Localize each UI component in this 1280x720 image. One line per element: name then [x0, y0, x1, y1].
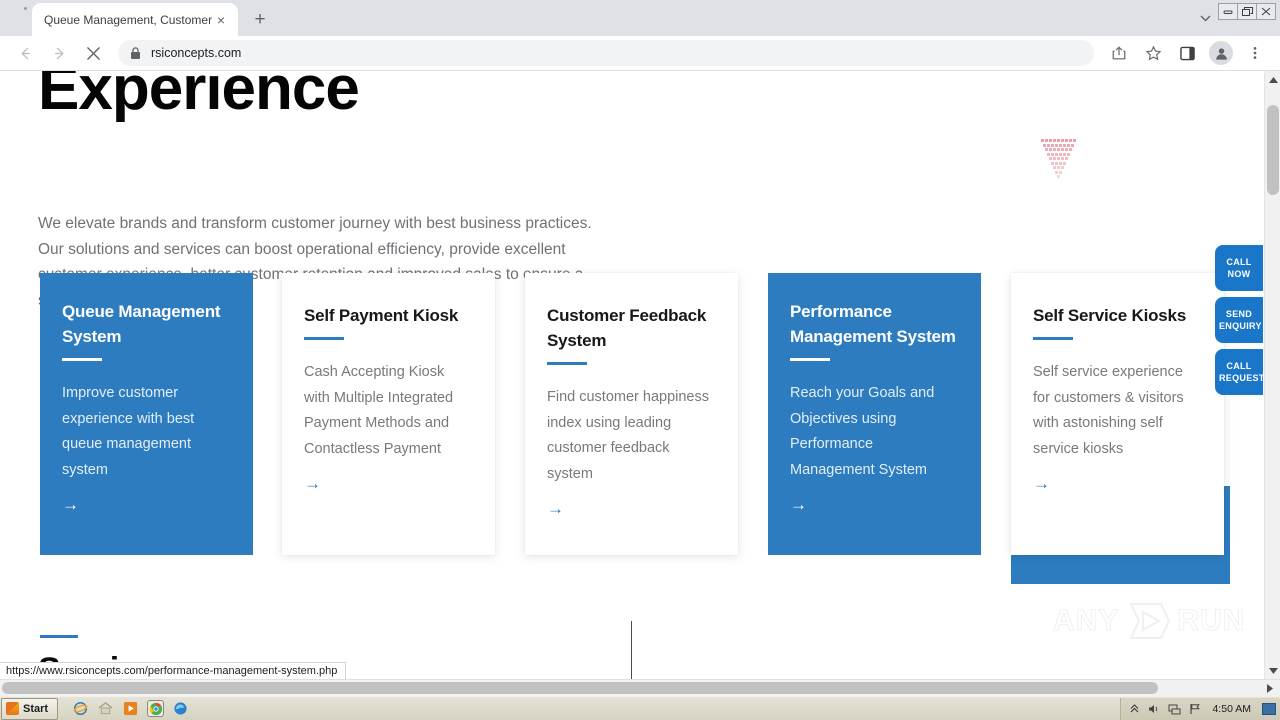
horizontal-scrollbar[interactable]: [0, 679, 1280, 696]
card-title: Performance Management System: [790, 299, 957, 349]
google-chrome-icon[interactable]: [147, 700, 164, 717]
card-title: Self Payment Kiosk: [304, 303, 471, 328]
windows-taskbar: Start: [0, 696, 1280, 720]
show-hidden-icons-icon[interactable]: [1128, 702, 1141, 715]
watermark-play-icon: [1125, 601, 1171, 641]
stop-loading-button[interactable]: [79, 39, 107, 67]
windows-logo-icon: [6, 702, 19, 715]
more-menu-icon[interactable]: [1241, 39, 1269, 67]
quick-launch-bar: [72, 700, 189, 717]
arrow-right-icon[interactable]: →: [62, 496, 229, 513]
horizontal-scrollbar-thumb[interactable]: [2, 682, 1158, 694]
watermark-text-right: RUN: [1177, 604, 1245, 638]
browser-tab[interactable]: Queue Management, Customer Jour ×: [32, 3, 238, 36]
scroll-down-arrow-icon[interactable]: [1265, 662, 1280, 679]
service-card-self-payment-kiosk[interactable]: Self Payment Kiosk Cash Accepting Kiosk …: [282, 273, 495, 555]
arrow-right-icon[interactable]: →: [547, 500, 714, 517]
card-rule: [1033, 337, 1073, 340]
arrow-right-icon[interactable]: →: [790, 496, 957, 513]
card-rule: [790, 358, 830, 361]
address-bar[interactable]: rsiconcepts.com: [118, 40, 1094, 66]
restore-button[interactable]: [1237, 3, 1257, 20]
system-tray: 4:50 AM: [1120, 698, 1280, 720]
bookmark-star-icon[interactable]: [1139, 39, 1167, 67]
browser-window: Queue Management, Customer Jour × +: [0, 0, 1280, 720]
media-player-icon[interactable]: [122, 700, 139, 717]
forward-button[interactable]: [45, 39, 73, 67]
card-description: Find customer happiness index using lead…: [547, 385, 714, 487]
scroll-up-arrow-icon[interactable]: [1265, 71, 1280, 88]
card-rule: [547, 362, 587, 365]
taskbar-clock[interactable]: 4:50 AM: [1212, 703, 1251, 715]
call-request-button[interactable]: CALL REQUEST: [1215, 349, 1263, 395]
service-card-queue-management-system[interactable]: Queue Management System Improve customer…: [40, 273, 253, 555]
status-bar-url: https://www.rsiconcepts.com/performance-…: [6, 665, 337, 677]
profile-avatar[interactable]: [1209, 41, 1233, 65]
card-description: Self service experience for customers & …: [1033, 360, 1200, 462]
internet-explorer-icon[interactable]: [72, 700, 89, 717]
page-viewport: Experience We elevate brands and transfo…: [0, 71, 1280, 679]
service-card-performance-management-system[interactable]: Performance Management System Reach your…: [768, 273, 981, 555]
floating-cta-rail: CALL NOW SEND ENQUIRY CALL REQUEST: [1215, 245, 1265, 401]
watermark-text-left: ANY: [1053, 604, 1119, 638]
tab-strip: Queue Management, Customer Jour × +: [0, 0, 1280, 36]
minimize-button[interactable]: [1218, 3, 1238, 20]
card-rule: [304, 337, 344, 340]
card-rule: [62, 358, 102, 361]
scroll-right-arrow-icon[interactable]: [1262, 680, 1278, 697]
toolbar-actions: [1102, 39, 1272, 67]
arrow-right-icon[interactable]: →: [1033, 475, 1200, 492]
back-button[interactable]: [11, 39, 39, 67]
card-title: Self Service Kiosks: [1033, 303, 1200, 328]
decorative-dot-pattern: [1041, 139, 1077, 181]
tab-title: Queue Management, Customer Jour: [44, 13, 212, 27]
card-title: Queue Management System: [62, 299, 229, 349]
chevron-down-icon[interactable]: [1191, 4, 1219, 32]
card-title: Customer Feedback System: [547, 303, 714, 353]
vertical-scrollbar[interactable]: [1264, 71, 1280, 679]
web-page: Experience We elevate brands and transfo…: [0, 71, 1264, 679]
page-title: Experience: [38, 71, 359, 124]
new-tab-button[interactable]: +: [246, 5, 274, 33]
close-button[interactable]: [1256, 3, 1276, 20]
call-now-button[interactable]: CALL NOW: [1215, 245, 1263, 291]
volume-icon[interactable]: [1148, 702, 1161, 715]
share-icon[interactable]: [1105, 39, 1133, 67]
start-button[interactable]: Start: [1, 698, 58, 720]
card-description: Cash Accepting Kiosk with Multiple Integ…: [304, 360, 471, 462]
address-bar-url: rsiconcepts.com: [151, 46, 241, 60]
network-icon[interactable]: [1168, 702, 1181, 715]
start-button-label: Start: [23, 703, 48, 715]
card-description: Reach your Goals and Objectives using Pe…: [790, 381, 957, 483]
service-card-self-service-kiosks[interactable]: Self Service Kiosks Self service experie…: [1011, 273, 1224, 555]
card-description: Improve customer experience with best qu…: [62, 381, 229, 483]
status-bar: https://www.rsiconcepts.com/performance-…: [0, 662, 346, 679]
tab-favicon-dot: [24, 7, 27, 10]
browser-toolbar: rsiconcepts.com: [0, 36, 1280, 71]
tab-close-icon[interactable]: ×: [212, 11, 230, 29]
flag-icon[interactable]: [1188, 702, 1201, 715]
vertical-scrollbar-thumb[interactable]: [1267, 105, 1279, 195]
arrow-right-icon[interactable]: →: [304, 475, 471, 492]
side-panel-icon[interactable]: [1173, 39, 1201, 67]
window-controls: [1219, 3, 1276, 20]
vertical-divider: [631, 621, 632, 679]
section-rule: [40, 635, 78, 638]
show-desktop-icon[interactable]: [97, 700, 114, 717]
service-card-customer-feedback-system[interactable]: Customer Feedback System Find customer h…: [525, 273, 738, 555]
send-enquiry-button[interactable]: SEND ENQUIRY: [1215, 297, 1263, 343]
display-icon[interactable]: [1262, 703, 1276, 715]
secure-lock-icon: [130, 47, 141, 60]
anyrun-watermark: ANY RUN: [1053, 601, 1245, 641]
microsoft-edge-icon[interactable]: [172, 700, 189, 717]
